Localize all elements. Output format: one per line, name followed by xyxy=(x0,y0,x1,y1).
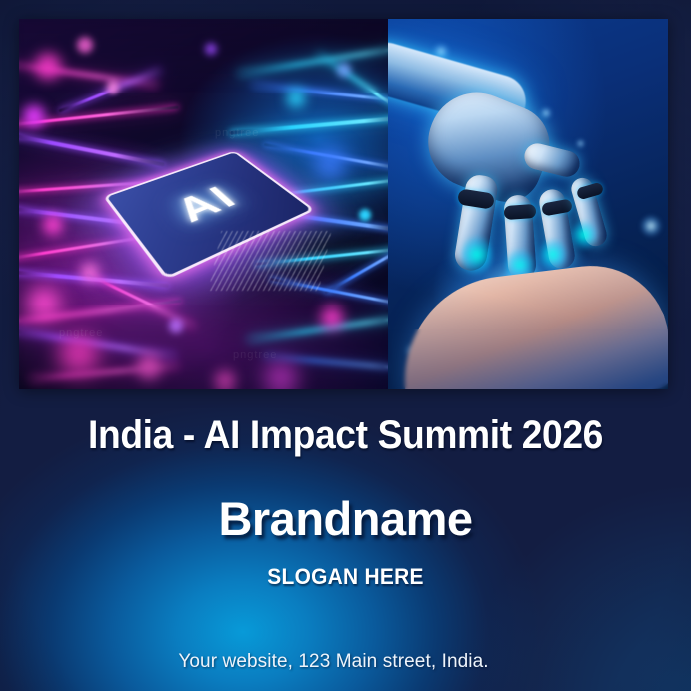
depth-blur-top xyxy=(19,19,388,93)
robot-fingertip-glow xyxy=(540,237,566,273)
photo-collage: AI pngtree pngtree pngtree xyxy=(19,19,668,389)
robot-fingertip-glow xyxy=(572,219,596,251)
robot-fingertip-glow xyxy=(462,233,492,277)
depth-blur-bottom xyxy=(388,329,668,389)
footer-contact: Your website, 123 Main street, India. xyxy=(0,650,691,674)
brand-name: Brandname xyxy=(0,492,691,546)
chip-ai-label: AI xyxy=(166,179,249,230)
depth-blur-bottom xyxy=(19,305,388,389)
headline-title: India - AI Impact Summit 2026 xyxy=(24,411,667,459)
slogan-text: SLOGAN HERE xyxy=(17,563,673,591)
robot-knuckle xyxy=(504,204,537,220)
chip-pins xyxy=(209,231,332,291)
robot-hand-human-hand-photo xyxy=(388,19,668,389)
ai-chip-circuit-board-photo: AI pngtree pngtree pngtree xyxy=(19,19,388,389)
poster-canvas: AI pngtree pngtree pngtree xyxy=(0,0,691,691)
